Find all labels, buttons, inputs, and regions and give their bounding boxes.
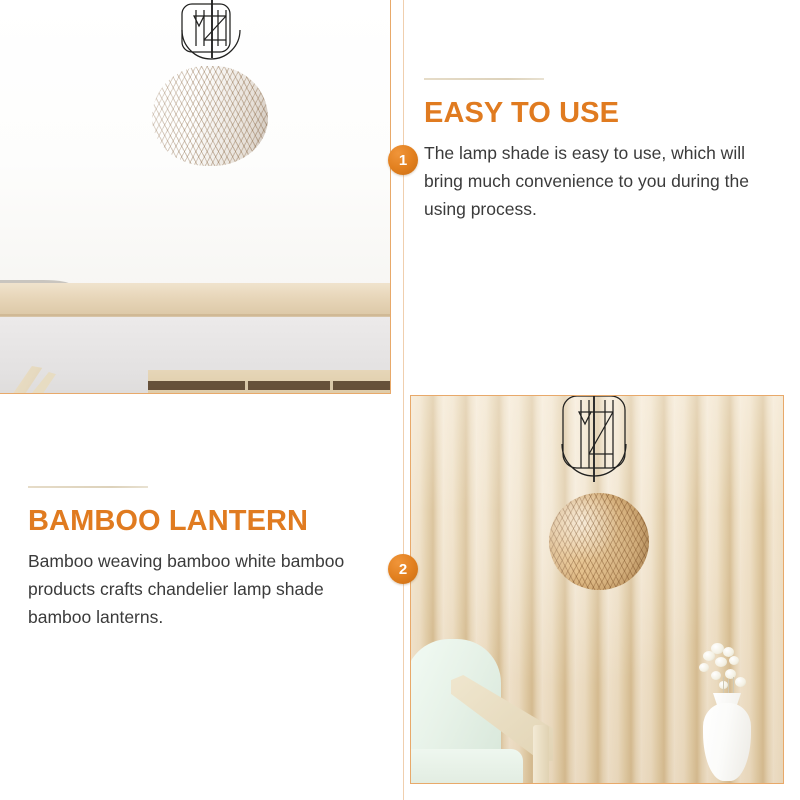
white-vase-with-flowers [699, 673, 755, 781]
bamboo-lamp-shade [152, 66, 268, 166]
shade-shading [549, 493, 649, 590]
armchair-arm-post [533, 725, 549, 783]
vertical-divider-line [403, 0, 404, 800]
product-photo-top-left [0, 0, 391, 394]
bamboo-lamp-shade [549, 493, 649, 590]
step-badge-1: 1 [388, 145, 418, 175]
feature-body-text: Bamboo weaving bamboo white bamboo produ… [28, 548, 374, 631]
bamboo-pendant-lamp [539, 396, 649, 590]
white-armchair [411, 627, 551, 783]
product-photo-bottom-right [410, 395, 784, 784]
photo-bottom-right-scene [411, 396, 783, 783]
infographic-canvas: EASY TO USE The lamp shade is easy to us… [0, 0, 800, 800]
heading-divider-rule [28, 486, 148, 488]
heading-divider-rule [424, 78, 544, 80]
cabinet-seam [330, 381, 333, 390]
wood-shelf [0, 283, 390, 316]
feature-block-bamboo-lantern: BAMBOO LANTERN Bamboo weaving bamboo whi… [28, 486, 374, 631]
step-badge-2: 2 [388, 554, 418, 584]
cabinet-shadow-gap [148, 381, 390, 390]
photo-top-left-scene [0, 0, 390, 393]
cabinet-seam [245, 381, 248, 390]
feature-heading: EASY TO USE [424, 98, 768, 128]
feature-block-easy-to-use: EASY TO USE The lamp shade is easy to us… [424, 78, 768, 223]
vase-body [703, 703, 751, 781]
armchair-seat [411, 749, 523, 783]
bamboo-pendant-lamp [152, 0, 272, 166]
lamp-fixture-lineart-icon [561, 396, 627, 488]
feature-heading: BAMBOO LANTERN [28, 506, 374, 536]
lamp-fixture-lineart-icon [174, 0, 248, 72]
shade-shading [152, 66, 268, 166]
feature-body-text: The lamp shade is easy to use, which wil… [424, 140, 768, 223]
